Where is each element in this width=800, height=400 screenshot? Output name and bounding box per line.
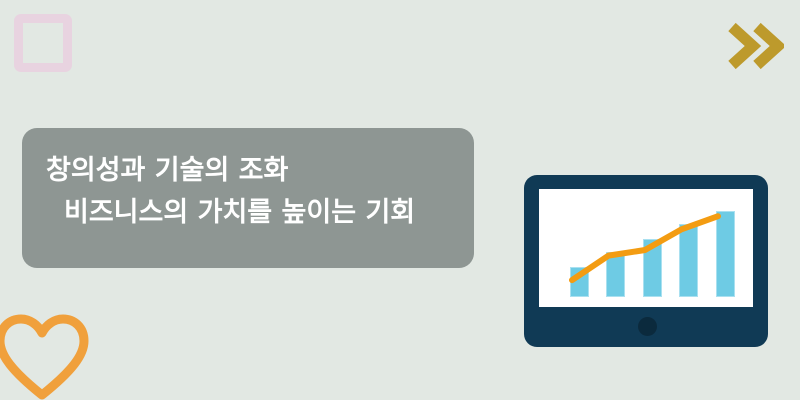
banner-root: 창의성과 기술의 조화 비즈니스의 가치를 높이는 기회 bbox=[0, 0, 800, 400]
pink-square-icon bbox=[14, 14, 72, 72]
headline-line-1: 창의성과 기술의 조화 bbox=[46, 150, 450, 192]
tablet-screen bbox=[539, 189, 753, 307]
heart-icon bbox=[0, 311, 90, 400]
growth-chart bbox=[539, 189, 753, 307]
chart-trend-line bbox=[539, 189, 753, 307]
headline-line-2: 비즈니스의 가치를 높이는 기회 bbox=[46, 192, 450, 234]
headline-panel: 창의성과 기술의 조화 비즈니스의 가치를 높이는 기회 bbox=[22, 128, 474, 268]
tablet-device bbox=[524, 175, 768, 347]
double-chevron-right-icon bbox=[726, 17, 784, 75]
tablet-home-button[interactable] bbox=[638, 317, 657, 336]
